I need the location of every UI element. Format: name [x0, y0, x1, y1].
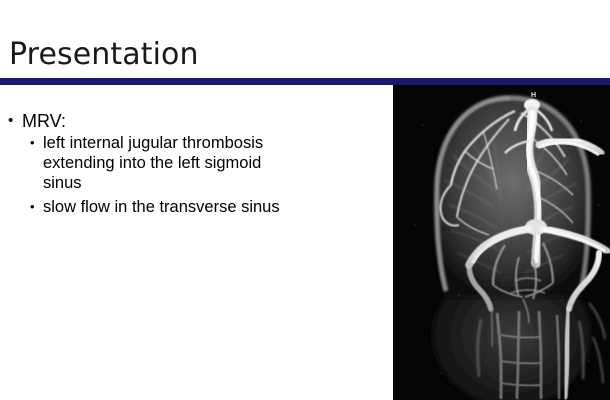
slide: Presentation • MRV: • left internal jugu… — [0, 0, 610, 400]
mrv-venogram-graphic — [393, 85, 610, 400]
list-item-label: left internal jugular thrombosis extendi… — [43, 133, 293, 193]
bullet-marker-icon: • — [30, 133, 43, 153]
list-item: • left internal jugular thrombosis exten… — [30, 133, 375, 193]
list-item-label: MRV: — [22, 110, 66, 132]
list-item-label: slow flow in the transverse sinus — [43, 197, 293, 217]
title-divider-rule — [0, 78, 610, 85]
title-area: Presentation — [0, 0, 610, 78]
list-item: • slow flow in the transverse sinus — [30, 197, 375, 217]
mrv-image: H — [393, 85, 610, 400]
page-title: Presentation — [9, 38, 199, 72]
bullet-marker-icon: • — [30, 197, 43, 217]
orientation-marker-label: H — [531, 92, 537, 99]
bullet-marker-icon: • — [8, 110, 22, 132]
list-item: • MRV: — [8, 110, 378, 132]
body-content: • MRV: • left internal jugular thrombosi… — [0, 85, 393, 400]
sub-list: • left internal jugular thrombosis exten… — [30, 133, 375, 221]
